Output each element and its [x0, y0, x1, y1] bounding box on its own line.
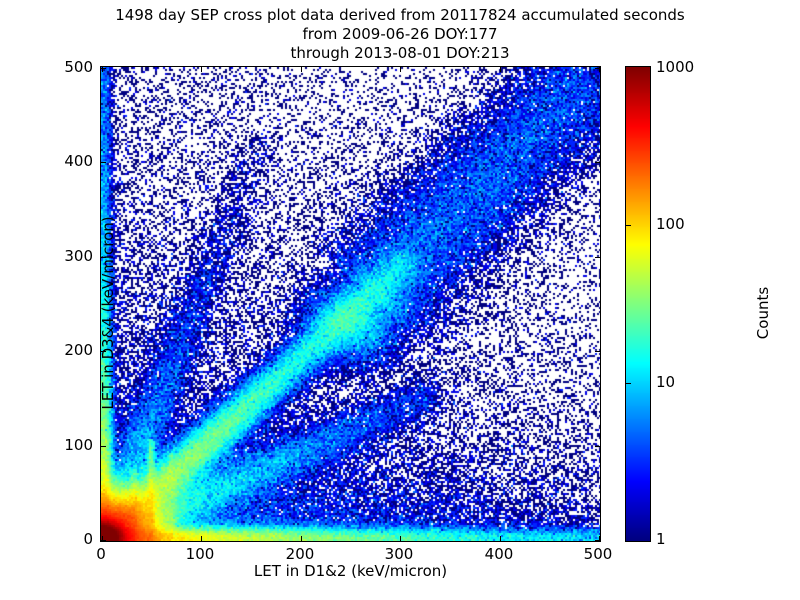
colorbar-label: Counts [754, 198, 772, 428]
y-tick-right [595, 257, 600, 258]
x-tick-top [201, 67, 202, 72]
x-tick-label: 100 [186, 545, 215, 563]
y-tick-left [101, 68, 106, 69]
y-tick-label: 200 [38, 341, 93, 359]
y-tick-right [595, 446, 600, 447]
y-tick-right [595, 351, 600, 352]
x-tick-bottom [201, 536, 202, 541]
colorbar-tick [626, 383, 631, 384]
y-tick-right [595, 68, 600, 69]
plot-axes-area[interactable] [100, 66, 601, 542]
y-tick-label: 500 [38, 58, 93, 76]
x-tick-bottom [301, 536, 302, 541]
x-axis-label: LET in D1&2 (keV/micron) [100, 562, 601, 580]
plot-title: 1498 day SEP cross plot data derived fro… [0, 6, 800, 63]
x-tick-label: 400 [485, 545, 514, 563]
x-tick-label: 500 [584, 545, 613, 563]
x-tick-top [301, 67, 302, 72]
y-tick-label: 400 [38, 152, 93, 170]
x-tick-bottom [500, 536, 501, 541]
y-tick-label: 100 [38, 436, 93, 454]
x-tick-bottom [400, 536, 401, 541]
colorbar-tick-label: 1 [656, 530, 666, 548]
x-tick-top [500, 67, 501, 72]
y-tick-right [595, 162, 600, 163]
colorbar-tick [626, 225, 631, 226]
x-tick-top [400, 67, 401, 72]
y-tick-label: 0 [38, 530, 93, 548]
colorbar-tick-label: 1000 [656, 58, 694, 76]
x-tick-label: 200 [286, 545, 315, 563]
title-line-2: from 2009-06-26 DOY:177 [0, 25, 800, 44]
density-scatter-canvas [101, 67, 600, 541]
colorbar-tick-label: 100 [656, 215, 685, 233]
x-tick-label: 300 [385, 545, 414, 563]
colorbar-gradient [626, 67, 650, 541]
y-tick-right [595, 540, 600, 541]
colorbar[interactable] [625, 66, 651, 542]
figure-canvas: 1498 day SEP cross plot data derived fro… [0, 0, 800, 600]
title-line-1: 1498 day SEP cross plot data derived fro… [0, 6, 800, 25]
y-tick-label: 300 [38, 247, 93, 265]
colorbar-tick-label: 10 [656, 373, 675, 391]
y-axis-label: LET in D3&4 (keV/micron) [99, 75, 117, 551]
